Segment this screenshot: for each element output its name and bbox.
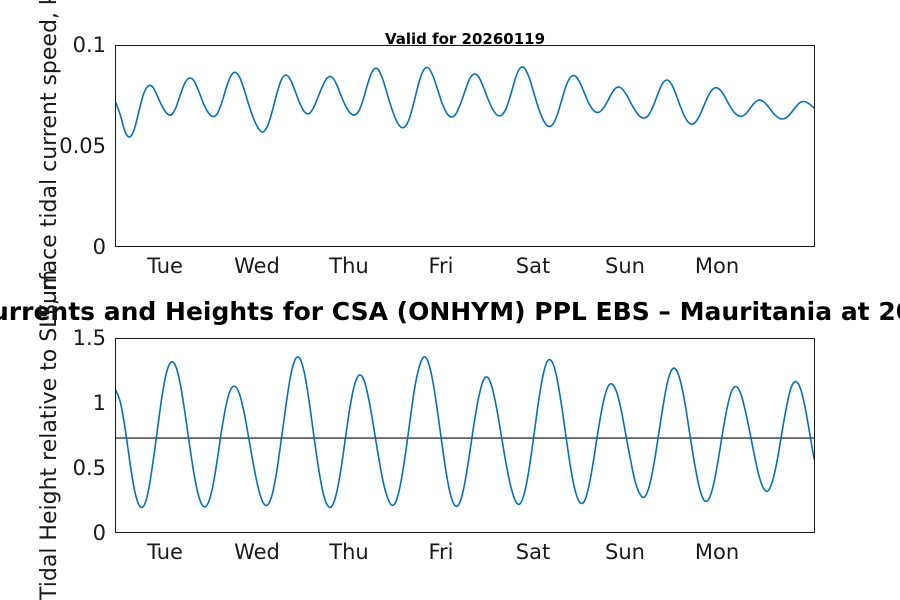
data-series-line-0 [116,357,814,508]
bottom-ytick-label-1: 1 [30,393,106,414]
bottom-panel-plot-area [115,338,815,533]
bottom-panel-y-axis-title: Tidal Height relative to SLT, m [38,270,62,600]
top-xtick-label-fri: Fri [391,256,491,277]
bottom-xtick-label-sun: Sun [575,542,675,563]
bottom-ytick-label-2: 0.5 [30,458,106,479]
bottom-ytick-label-0: 1.5 [30,328,106,349]
top-xtick-label-tue: Tue [115,256,215,277]
figure-main-title: Tidal Currents and Heights for CSA (ONHY… [0,297,900,326]
top-xtick-label-wed: Wed [207,256,307,277]
bottom-xtick-label-wed: Wed [207,542,307,563]
top-xtick-label-mon: Mon [667,256,767,277]
bottom-xtick-label-fri: Fri [391,542,491,563]
bottom-xtick-label-tue: Tue [115,542,215,563]
bottom-panel-series-svg [116,339,814,532]
top-ytick-label-1: 0.05 [30,136,106,157]
top-xtick-label-sun: Sun [575,256,675,277]
top-ytick-label-2: 0 [30,237,106,258]
bottom-xtick-label-sat: Sat [483,542,583,563]
top-ytick-label-0: 0.1 [30,35,106,56]
top-panel-series-svg [116,46,814,246]
top-panel-plot-area [115,45,815,247]
data-series-line-0 [116,67,814,137]
figure-canvas: Tidal Currents and Heights for CSA (ONHY… [0,0,900,600]
bottom-xtick-label-mon: Mon [667,542,767,563]
bottom-ytick-label-3: 0 [30,523,106,544]
bottom-xtick-label-thu: Thu [299,542,399,563]
top-xtick-label-sat: Sat [483,256,583,277]
top-xtick-label-thu: Thu [299,256,399,277]
